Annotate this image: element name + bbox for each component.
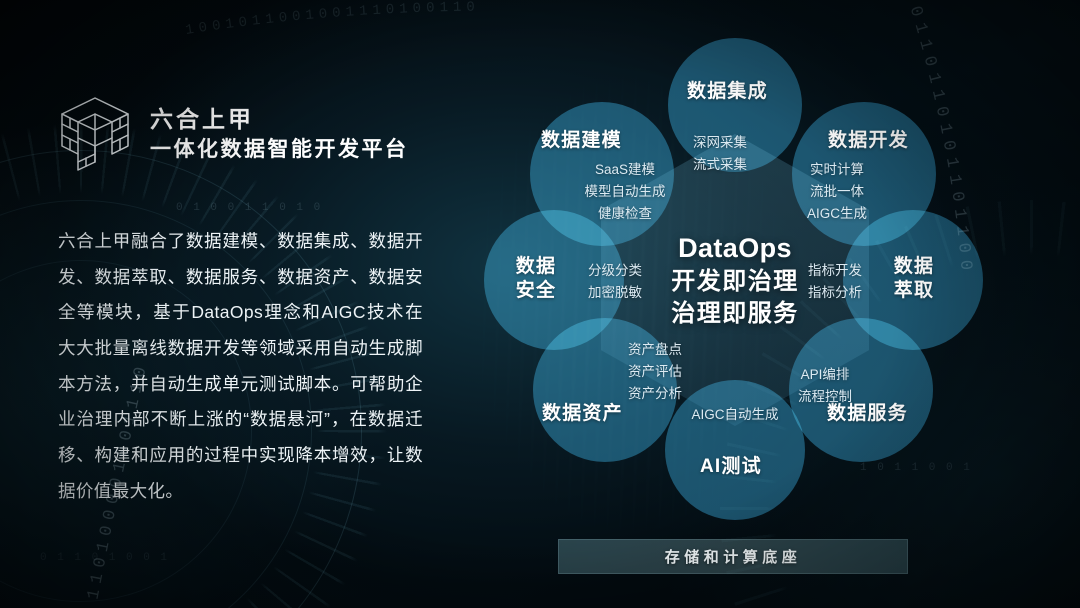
label-ai-testing: AI测试 (700, 455, 762, 479)
isometric-brick-wall-logo (58, 95, 132, 171)
subitem: 健康检查 (555, 203, 695, 225)
subitem: 指标开发 (785, 260, 885, 282)
brand-name: 六合上甲 (150, 106, 409, 132)
storage-compute-base-bar: 存储和计算底座 (558, 539, 908, 574)
label-data-extraction: 数据萃取 (885, 255, 943, 304)
sublist-data-extraction: 指标开发 指标分析 (785, 260, 885, 304)
dataops-venn-diagram: DataOps 开发即治理 治理即服务 数据集成 深网采集 流式采集 数据建模 … (455, 12, 1015, 532)
brand-text: 六合上甲 一体化数据智能开发平台 (150, 104, 409, 163)
sublist-data-development: 实时计算 流批一体 AIGC生成 (777, 159, 897, 225)
subitem: 资产分析 (605, 383, 705, 405)
node-label-layer: 数据集成 深网采集 流式采集 数据建模 SaaS建模 模型自动生成 健康检查 数… (455, 12, 1015, 532)
subitem: 分级分类 (565, 260, 665, 282)
sublist-data-service: API编排 流程控制 (775, 364, 875, 408)
sublist-data-security: 分级分类 加密脱敏 (565, 260, 665, 304)
subitem: 实时计算 (777, 159, 897, 181)
subitem: 模型自动生成 (555, 181, 695, 203)
subitem: SaaS建模 (555, 159, 695, 181)
subitem: 资产盘点 (605, 339, 705, 361)
subitem: 加密脱敏 (565, 282, 665, 304)
description-paragraph: 六合上甲融合了数据建模、数据集成、数据开发、数据萃取、数据服务、数据资产、数据安… (58, 224, 423, 510)
slide-canvas: 110100001001110 0110110101101100 1001011… (0, 0, 1080, 608)
brand-subtitle: 一体化数据智能开发平台 (150, 138, 409, 162)
label-data-modeling: 数据建模 (541, 129, 622, 153)
storage-compute-base-label: 存储和计算底座 (665, 546, 802, 567)
subitem: API编排 (775, 364, 875, 386)
left-info-panel: 六合上甲 一体化数据智能开发平台 六合上甲融合了数据建模、数据集成、数据开发、数… (58, 95, 423, 527)
label-data-security: 数据安全 (507, 255, 565, 304)
label-data-development: 数据开发 (828, 129, 909, 153)
sublist-data-modeling: SaaS建模 模型自动生成 健康检查 (555, 159, 695, 225)
sublist-data-asset: 资产盘点 资产评估 资产分析 (605, 339, 705, 405)
brand-block: 六合上甲 一体化数据智能开发平台 (58, 95, 423, 171)
subitem: 指标分析 (785, 282, 885, 304)
subitem: AIGC自动生成 (668, 404, 802, 426)
label-data-integration: 数据集成 (687, 80, 768, 104)
label-data-asset: 数据资产 (542, 402, 623, 426)
subitem: 资产评估 (605, 361, 705, 383)
subitem: 流批一体 (777, 181, 897, 203)
sublist-ai-testing: AIGC自动生成 (668, 404, 802, 426)
subitem: AIGC生成 (777, 203, 897, 225)
subitem: 深网采集 (655, 132, 785, 154)
